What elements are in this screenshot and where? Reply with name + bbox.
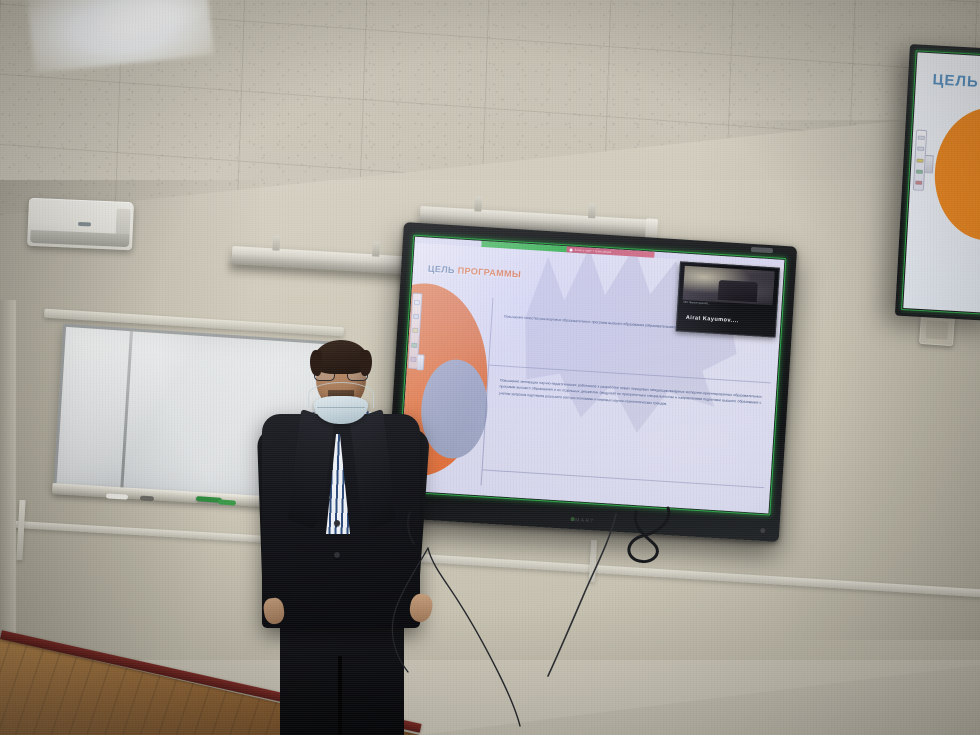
presenter-leg-split — [338, 656, 342, 735]
side-pen-tool-icon[interactable] — [917, 147, 924, 151]
lecture-hall-photo: Запись идет • трансляция ЦЕЛЬ ПРОГРАММЫ — [0, 0, 980, 735]
presenter-hair-side-left — [310, 350, 322, 376]
display-top-tab — [751, 247, 773, 253]
presenter-hair-side-right — [360, 350, 372, 376]
display-edge-glow: Запись идет • трансляция ЦЕЛЬ ПРОГРАММЫ — [397, 235, 786, 516]
slide-paragraph-2: Повышение мотивации научно-педагогически… — [499, 377, 762, 413]
pen-tool-icon[interactable] — [413, 314, 419, 319]
highlighter-tool-icon[interactable] — [412, 328, 418, 333]
slide-title-part2: ПРОГРАММЫ — [457, 265, 521, 279]
fixture-bracket — [372, 241, 380, 256]
slide-title-part1: ЦЕЛЬ — [428, 263, 458, 275]
interactive-flat-panel-display[interactable]: Запись идет • трансляция ЦЕЛЬ ПРОГРАММЫ — [385, 222, 797, 542]
side-toolbar-expand-tab[interactable] — [925, 155, 934, 173]
remote-camera-feed — [683, 266, 775, 305]
ac-display-led — [78, 222, 91, 227]
ir-receiver-icon — [760, 528, 765, 533]
side-display-screen[interactable]: ЦЕЛЬ — [903, 52, 980, 313]
side-shapes-tool-icon[interactable] — [915, 181, 922, 185]
floor-right-area — [420, 665, 980, 735]
face-mask-strap — [308, 382, 374, 408]
presentation-slide: ЦЕЛЬ ПРОГРАММЫ Повышение качества реализ… — [399, 243, 784, 514]
presenter-trousers — [280, 618, 404, 735]
wall-corner-edge — [0, 300, 16, 660]
secondary-flat-panel-display[interactable]: ЦЕЛЬ — [895, 44, 980, 322]
side-eraser-tool-icon[interactable] — [916, 170, 923, 174]
display-bezel: Запись идет • трансляция ЦЕЛЬ ПРОГРАММЫ — [385, 222, 797, 542]
side-orange-circle-graphic — [931, 105, 980, 244]
blazer-button-1 — [334, 520, 340, 526]
display-screen[interactable]: Запись идет • трансляция ЦЕЛЬ ПРОГРАММЫ — [399, 237, 784, 514]
recording-label: Запись идет • трансляция — [574, 248, 611, 254]
fixture-bracket — [272, 235, 280, 250]
video-conference-overlay[interactable]: КФУ Презентация ВО... Airat Kayumov.... — [676, 262, 780, 338]
fixture-endcap — [645, 218, 658, 239]
video-participant-name: Airat Kayumov.... — [686, 315, 739, 324]
side-slide-title: ЦЕЛЬ — [932, 71, 979, 91]
fixture-bracket — [474, 196, 482, 211]
grey-marker-icon — [140, 496, 154, 502]
wall-split-ac-unit — [27, 198, 134, 251]
side-select-tool-icon[interactable] — [917, 135, 924, 139]
display-brand-label: SMART — [570, 517, 595, 525]
slide-divider-2 — [483, 469, 765, 488]
fixture-bracket — [588, 203, 596, 218]
side-display-edge-glow: ЦЕЛЬ — [901, 50, 980, 315]
blazer-button-2 — [334, 552, 340, 558]
side-display-bezel: ЦЕЛЬ — [895, 44, 980, 322]
side-highlighter-tool-icon[interactable] — [916, 158, 923, 162]
select-tool-icon[interactable] — [414, 299, 420, 304]
record-dot-icon — [569, 248, 572, 251]
slide-title: ЦЕЛЬ ПРОГРАММЫ — [428, 263, 522, 279]
presenter-speaker — [238, 336, 434, 735]
